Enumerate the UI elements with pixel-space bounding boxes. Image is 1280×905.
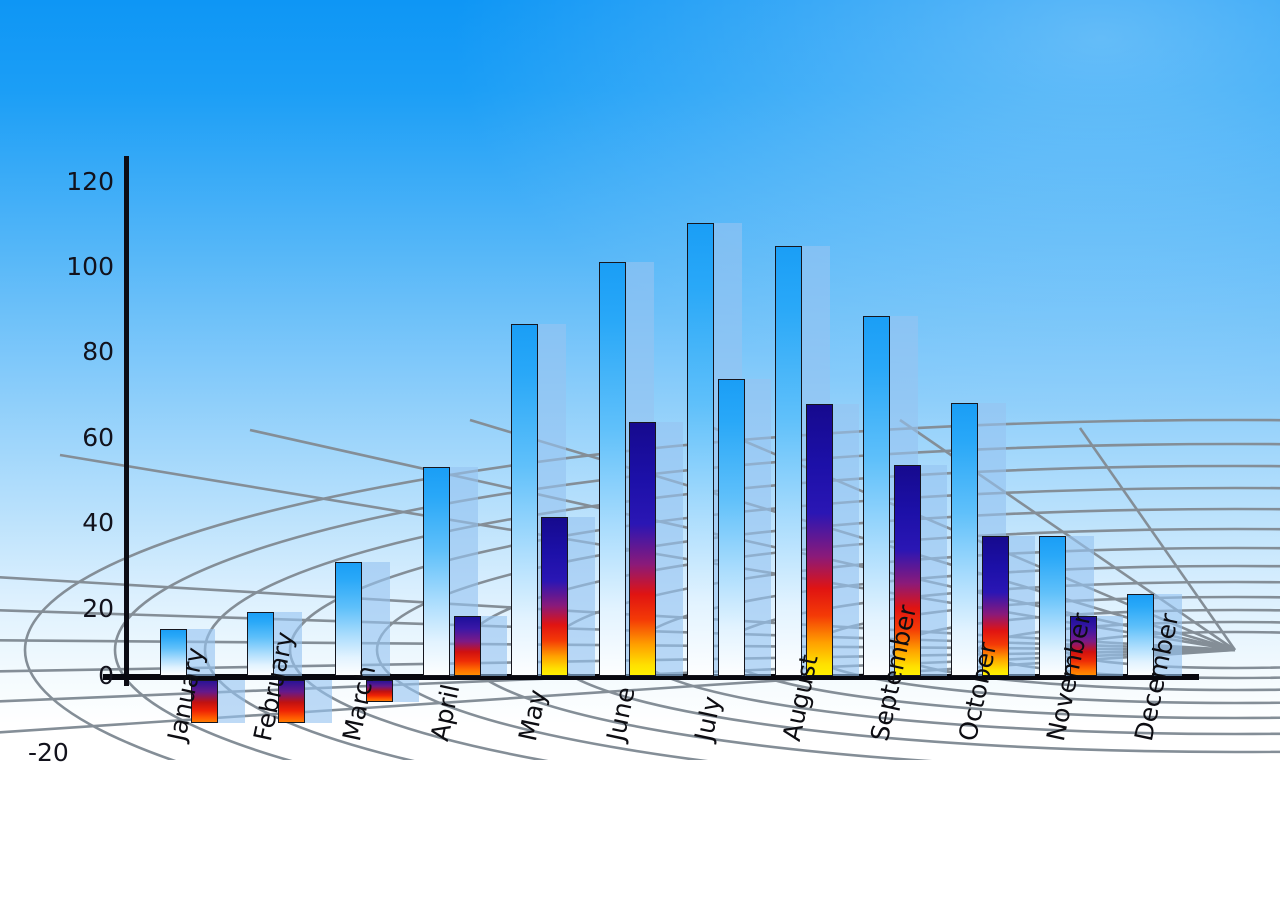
x-tick-label-april: April bbox=[427, 682, 463, 743]
bar-depth-slab bbox=[215, 680, 245, 723]
bar-series2-august[interactable] bbox=[806, 404, 833, 676]
bar-depth-slab bbox=[358, 562, 390, 676]
bar-depth-slab bbox=[741, 379, 771, 676]
bar-series1-april[interactable] bbox=[423, 467, 450, 676]
bar-depth-slab bbox=[653, 422, 683, 676]
bar-depth-slab bbox=[829, 404, 859, 676]
bar-series1-october[interactable] bbox=[951, 403, 978, 676]
plot-area: 120 100 80 60 40 20 0 -20 bbox=[0, 0, 1280, 905]
bar-series1-august[interactable] bbox=[775, 246, 802, 676]
x-tick-label-july: July bbox=[691, 694, 725, 743]
y-tick-label-neg20: -20 bbox=[28, 740, 108, 765]
y-tick-label-60: 60 bbox=[34, 425, 114, 450]
bar-series1-march[interactable] bbox=[335, 562, 362, 676]
y-axis-line bbox=[124, 156, 129, 686]
bar-series1-september[interactable] bbox=[863, 316, 890, 676]
bar-depth-slab bbox=[565, 517, 595, 676]
y-tick-label-0: 0 bbox=[34, 663, 114, 688]
y-tick-label-80: 80 bbox=[34, 339, 114, 364]
bar-depth-slab bbox=[917, 465, 947, 676]
y-tick-label-120: 120 bbox=[34, 169, 114, 194]
x-tick-label-may: May bbox=[515, 687, 550, 743]
bar-depth-slab bbox=[389, 680, 419, 702]
bar-series2-june[interactable] bbox=[629, 422, 656, 676]
bar-depth-slab bbox=[1093, 616, 1123, 676]
bar-depth-slab bbox=[302, 680, 332, 723]
bar-depth-slab bbox=[1005, 536, 1035, 676]
chart-canvas: 120 100 80 60 40 20 0 -20 bbox=[0, 0, 1280, 905]
bar-series2-july[interactable] bbox=[718, 379, 745, 676]
y-tick-label-40: 40 bbox=[34, 510, 114, 535]
bar-series1-july[interactable] bbox=[687, 223, 714, 676]
bar-series1-may[interactable] bbox=[511, 324, 538, 676]
bar-series2-may[interactable] bbox=[541, 517, 568, 676]
x-tick-label-june: June bbox=[603, 685, 639, 743]
bar-depth-slab bbox=[477, 616, 507, 676]
y-tick-label-20: 20 bbox=[34, 596, 114, 621]
bar-series2-april[interactable] bbox=[454, 616, 481, 676]
bar-series1-june[interactable] bbox=[599, 262, 626, 676]
y-tick-label-100: 100 bbox=[34, 254, 114, 279]
